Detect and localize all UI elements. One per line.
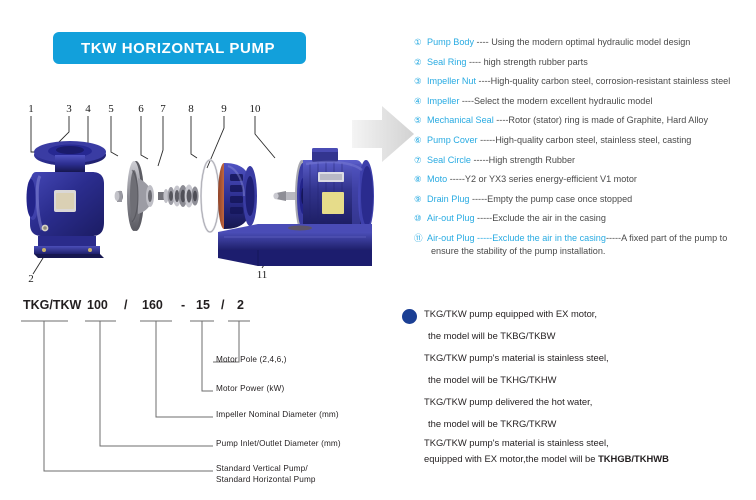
svg-text:11: 11	[257, 269, 268, 281]
legend-part-name: Mechanical Seal	[427, 115, 494, 125]
legend-part-name: Moto	[427, 174, 447, 184]
svg-text:6: 6	[138, 103, 144, 115]
legend-description: Rotor (stator) ring is made of Graphite,…	[508, 115, 708, 125]
legend-dash: -----	[447, 174, 465, 184]
variant-line: TKG/TKW pump's material is stainless ste…	[424, 435, 750, 451]
nom-label-motor-power: Motor Power (kW)	[216, 384, 284, 393]
variant-final-prefix: equipped with EX motor,the model will be	[424, 453, 598, 464]
legend-dash: -----	[475, 213, 493, 223]
model-nomenclature-diagram: TKG/TKW 100 / 160 - 15 / 2	[0, 296, 400, 500]
legend-dash-2: -----	[606, 233, 621, 243]
nom-label-inlet-diameter: Pump Inlet/Outlet Diameter (mm)	[216, 439, 341, 448]
legend-item: ②Seal Ring ---- high strength rubber par…	[414, 53, 752, 73]
legend-number: ①	[414, 33, 427, 53]
callout-numbers-top: 1 3 4 5 6 7 8 9 10	[28, 103, 261, 115]
page-title: TKW HORIZONTAL PUMP	[81, 40, 275, 57]
legend-item: ⑦Seal Circle -----High strength Rubber	[414, 151, 752, 171]
legend-number: ⑤	[414, 111, 427, 131]
legend-description: High-quality carbon steel, corrosion-res…	[491, 76, 731, 86]
pump-body-part	[27, 141, 107, 258]
legend-description: Using the modern optimal hydraulic model…	[491, 37, 690, 47]
exploded-pump-figure: 1 3 4 5 6 7 8 9 10 2 11	[0, 92, 400, 292]
legend-part-name: Pump Body	[427, 37, 474, 47]
legend-dash: ----	[494, 115, 509, 125]
variant-line-list: TKG/TKW pump equipped with EX motor, the…	[424, 303, 750, 467]
seal-circle-part	[201, 160, 219, 232]
variant-line-final: equipped with EX motor,the model will be…	[424, 451, 750, 467]
svg-text:10: 10	[250, 103, 262, 115]
legend-item: ④Impeller ----Select the modern excellen…	[414, 92, 752, 112]
bullet-icon	[402, 309, 417, 324]
variant-line: TKG/TKW pump delivered the hot water,	[424, 391, 750, 413]
legend-part-name: Impeller Nut	[427, 76, 476, 86]
nomenclature-labels: Motor Pole (2,4,6,) Motor Power (kW) Imp…	[0, 296, 400, 500]
legend-item: ⑤Mechanical Seal ----Rotor (stator) ring…	[414, 111, 752, 131]
legend-item: ③Impeller Nut ----High-quality carbon st…	[414, 72, 752, 92]
svg-text:4: 4	[85, 103, 91, 115]
legend-item: ⑧Moto -----Y2 or YX3 series energy-effic…	[414, 170, 752, 190]
legend-number: ⑩	[414, 209, 427, 229]
svg-text:7: 7	[160, 103, 166, 115]
variant-final-model: TKHGB/TKHWB	[598, 453, 669, 464]
legend-item-last: ⑪Air-out Plug -----Exclude the air in th…	[414, 229, 752, 258]
legend-item: ①Pump Body ---- Using the modern optimal…	[414, 33, 752, 53]
legend-dash: ----	[476, 76, 491, 86]
impeller-part	[127, 161, 154, 231]
legend-part-name: Air-out Plug	[427, 213, 475, 223]
legend-dash: -----	[478, 135, 496, 145]
legend-number: ④	[414, 92, 427, 112]
legend-part-name: Air-out Plug	[427, 233, 475, 243]
svg-text:5: 5	[108, 103, 114, 115]
title-banner: TKW HORIZONTAL PUMP	[53, 32, 306, 64]
legend-item: ⑨Drain Plug -----Empty the pump case onc…	[414, 190, 752, 210]
page-root: TKW HORIZONTAL PUMP	[0, 0, 756, 500]
svg-text:3: 3	[66, 103, 72, 115]
legend-number: ⑦	[414, 151, 427, 171]
legend-description: Empty the pump case once stopped	[487, 194, 632, 204]
component-legend-list: ①Pump Body ---- Using the modern optimal…	[414, 33, 752, 258]
legend-dash: ----	[459, 96, 474, 106]
svg-text:1: 1	[28, 103, 34, 115]
legend-description-blue: Exclude the air in the casing	[492, 233, 606, 243]
nom-label-pump-type-line2: Standard Horizontal Pump	[216, 475, 316, 484]
legend-part-name: Drain Plug	[427, 194, 469, 204]
legend-description-continuation: ensure the stability of the pump install…	[414, 245, 752, 258]
legend-dash: ----	[466, 57, 483, 67]
legend-description: High-quality carbon steel, stainless ste…	[495, 135, 691, 145]
nom-label-motor-pole: Motor Pole (2,4,6,)	[216, 355, 287, 364]
legend-dash: -----	[469, 194, 487, 204]
mechanical-seal-part	[158, 185, 199, 208]
legend-description: High strength Rubber	[489, 155, 575, 165]
legend-part-name: Pump Cover	[427, 135, 478, 145]
legend-item: ⑥Pump Cover -----High-quality carbon ste…	[414, 131, 752, 151]
variant-line: the model will be TKHG/TKHW	[424, 369, 750, 391]
legend-description: Exclude the air in the casing	[492, 213, 606, 223]
legend-number: ⑧	[414, 170, 427, 190]
legend-number: ⑨	[414, 190, 427, 210]
variant-line: the model will be TKBG/TKBW	[424, 325, 750, 347]
legend-description: Select the modern excellent hydraulic mo…	[474, 96, 652, 106]
legend-number: ⑪	[414, 232, 427, 245]
nom-label-impeller-diameter: Impeller Nominal Diameter (mm)	[216, 410, 339, 419]
variant-line: TKG/TKW pump's material is stainless ste…	[424, 347, 750, 369]
nom-label-pump-type-line1: Standard Vertical Pump/	[216, 464, 308, 473]
variant-line: TKG/TKW pump equipped with EX motor,	[424, 303, 750, 325]
legend-description: A fixed part of the pump to	[621, 233, 727, 243]
legend-dash: ----	[474, 37, 491, 47]
legend-description: high strength rubber parts	[484, 57, 588, 67]
legend-number: ③	[414, 72, 427, 92]
legend-part-name: Seal Ring	[427, 57, 466, 67]
base-plate-part	[218, 224, 372, 266]
legend-dash: -----	[471, 155, 489, 165]
impeller-nut-part	[115, 191, 123, 203]
svg-text:8: 8	[188, 103, 194, 115]
legend-item: ⑩Air-out Plug -----Exclude the air in th…	[414, 209, 752, 229]
svg-text:9: 9	[221, 103, 227, 115]
legend-dash: -----	[475, 233, 493, 243]
legend-part-name: Seal Circle	[427, 155, 471, 165]
legend-number: ②	[414, 53, 427, 73]
variant-line: the model will be TKRG/TKRW	[424, 413, 750, 435]
svg-text:2: 2	[28, 273, 34, 285]
process-arrow	[352, 98, 418, 170]
legend-description: Y2 or YX3 series energy-efficient V1 mot…	[465, 174, 637, 184]
legend-part-name: Impeller	[427, 96, 459, 106]
callout-numbers-bottom: 2 11	[28, 269, 267, 285]
legend-number: ⑥	[414, 131, 427, 151]
pump-cover-part	[218, 163, 257, 229]
